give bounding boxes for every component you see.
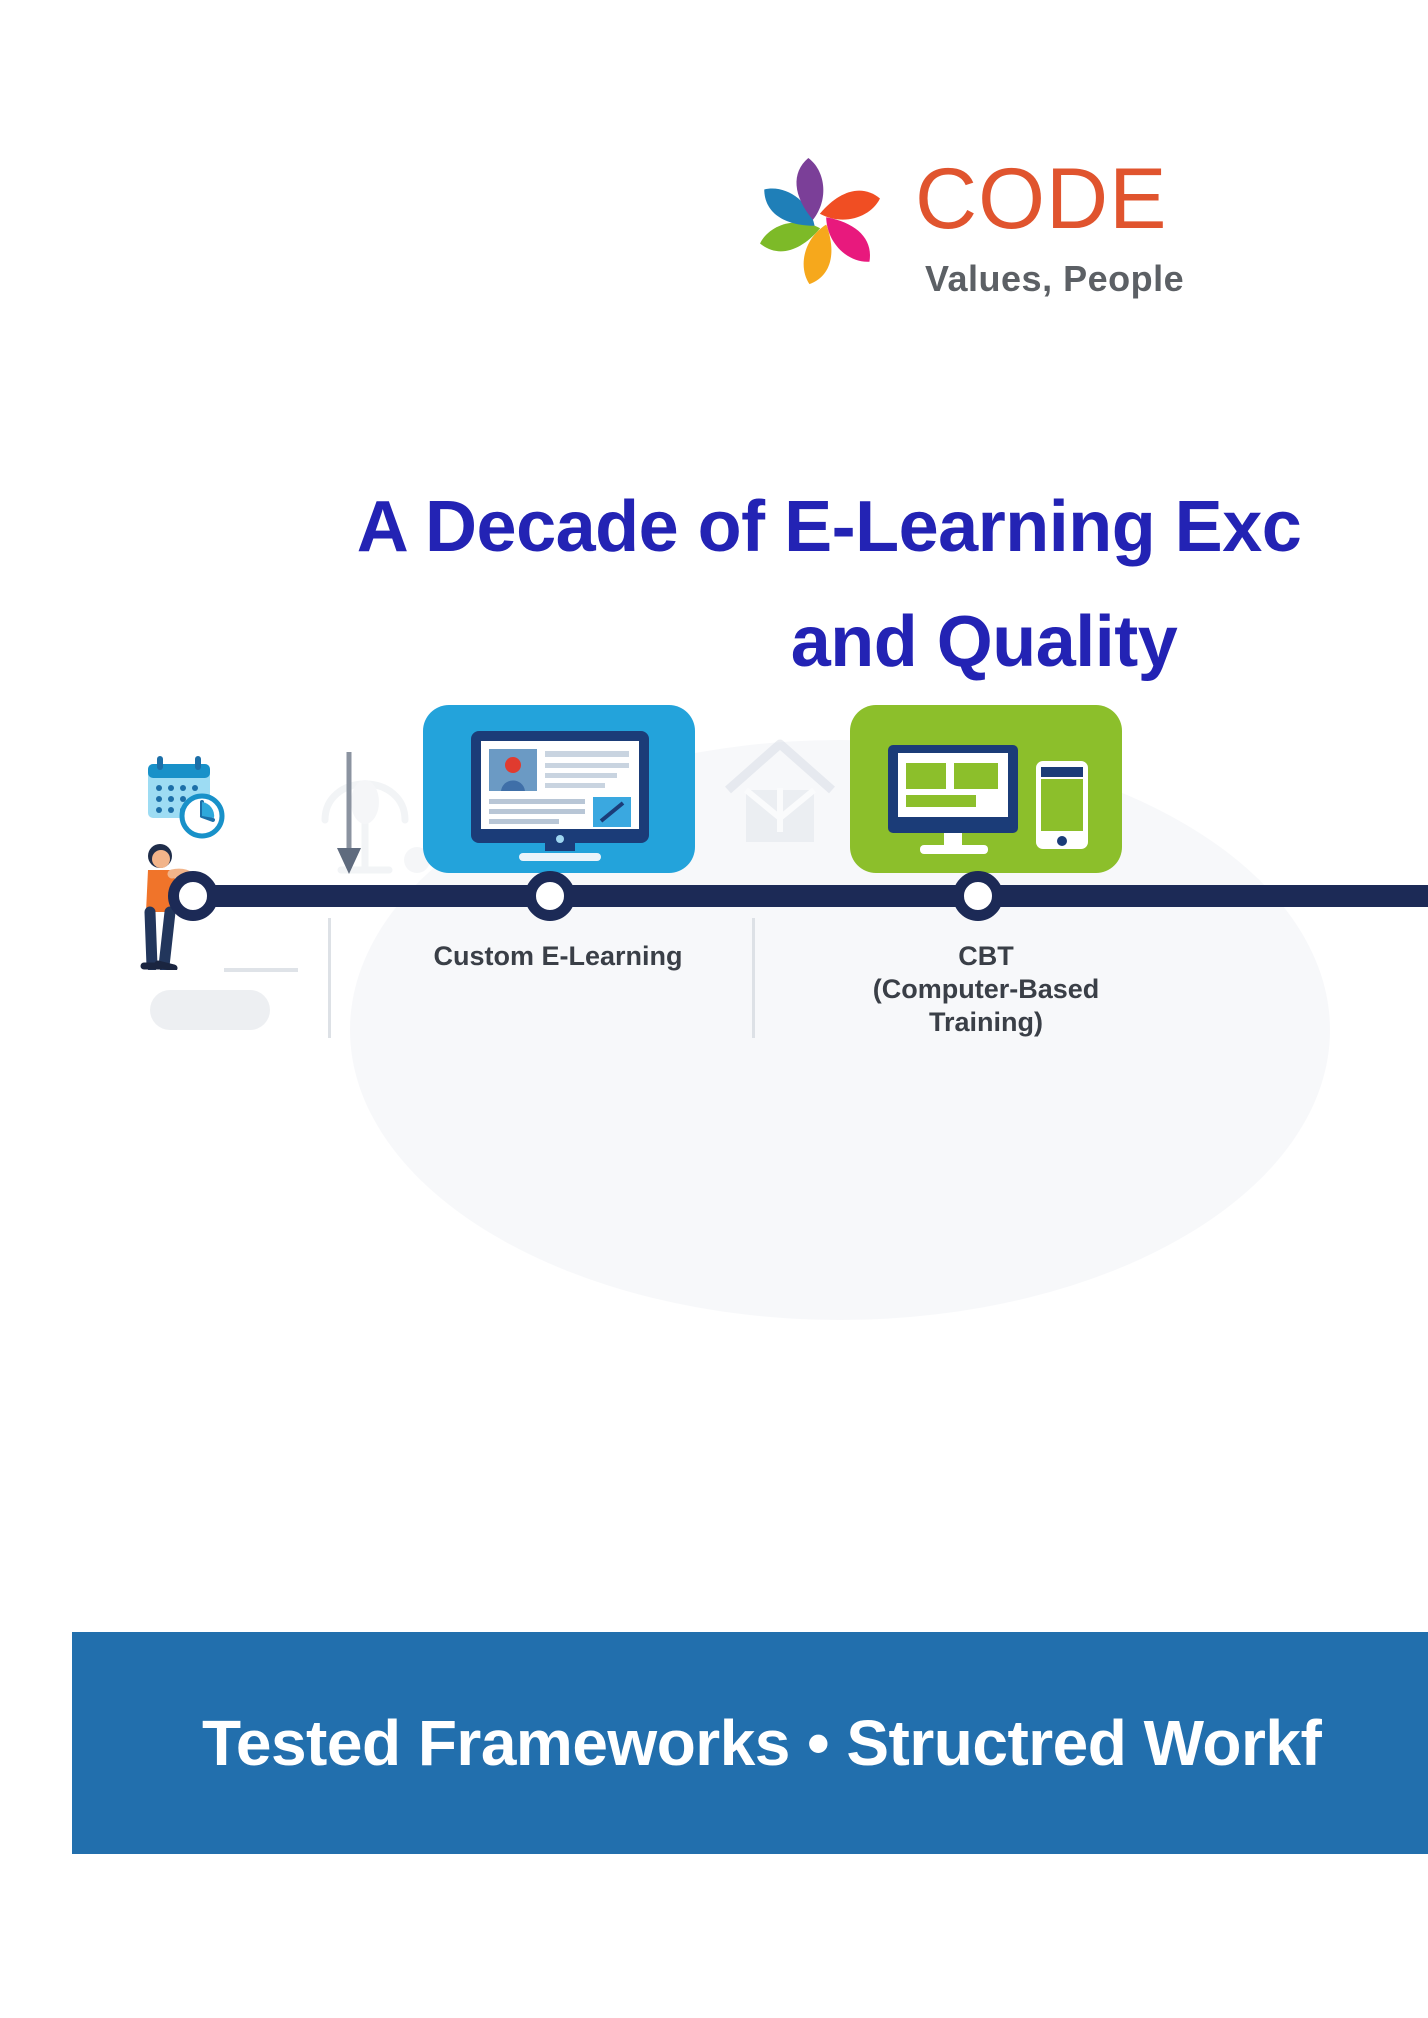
timeline-label-text: Custom E-Learning — [408, 940, 708, 973]
arrow-down-icon — [332, 748, 366, 878]
timeline-node-cbt — [953, 871, 1003, 921]
timeline-label-line-2: (Computer-Based — [836, 973, 1136, 1006]
timeline-separator — [752, 918, 755, 1038]
timeline-label-line-3: Training) — [836, 1006, 1136, 1039]
brand-wordmark: CODE — [915, 156, 1167, 242]
calendar-clock-icon — [140, 750, 236, 846]
house-envelope-icon — [720, 728, 840, 858]
brand-logo: CODE Values, People — [755, 148, 1428, 308]
timeline-rail — [180, 885, 1428, 907]
timeline-label-custom-elearning: Custom E-Learning — [408, 940, 708, 973]
elearning-timeline-graphic: Custom E-Learning CBT (Computer-Based Tr… — [120, 700, 1428, 1350]
timeline-separator — [328, 918, 331, 1038]
timeline-label-cbt: CBT (Computer-Based Training) — [836, 940, 1136, 1039]
footer-banner: Tested Frameworks • Structred Workf — [72, 1632, 1428, 1854]
brand-tagline: Values, People — [925, 258, 1184, 300]
timeline-label-line-1: CBT — [836, 940, 1136, 973]
page-title: A Decade of E-Learning Exc and Quality — [0, 470, 1428, 700]
decor-cloud — [150, 990, 270, 1030]
cbt-card — [850, 705, 1122, 873]
custom-elearning-card — [423, 705, 695, 873]
footer-banner-text: Tested Frameworks • Structred Workf — [72, 1706, 1321, 1780]
page-title-line-2: and Quality — [540, 585, 1428, 700]
slide-canvas: CODE Values, People A Decade of E-Learni… — [0, 0, 1428, 2018]
timeline-node-start — [168, 871, 218, 921]
pinwheel-petal-logo-icon — [755, 156, 885, 286]
decor-line — [224, 968, 298, 972]
page-title-line-1: A Decade of E-Learning Exc — [230, 470, 1428, 585]
timeline-node-custom-elearning — [525, 871, 575, 921]
